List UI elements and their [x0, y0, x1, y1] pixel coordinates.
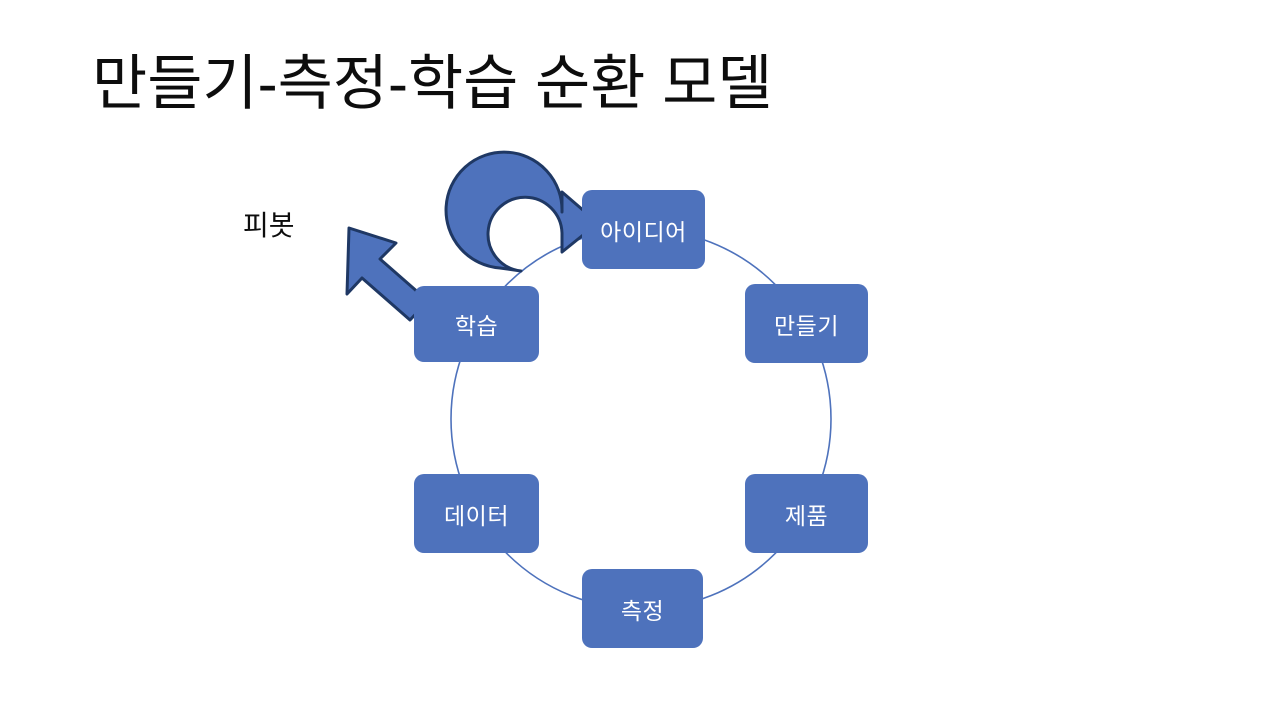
cycle-node-data[interactable]: 데이터 [414, 474, 539, 553]
cycle-node-idea[interactable]: 아이디어 [582, 190, 705, 269]
cycle-node-product[interactable]: 제품 [745, 474, 868, 553]
cycle-node-build[interactable]: 만들기 [745, 284, 868, 363]
cycle-node-product-label: 제품 [785, 497, 828, 531]
curved-loop-arrow-icon [446, 152, 598, 271]
cycle-node-learn-label: 학습 [455, 307, 498, 341]
cycle-node-measure[interactable]: 측정 [582, 569, 703, 648]
pivot-annotation-label: 피봇 [243, 207, 295, 245]
cycle-node-build-label: 만들기 [774, 307, 839, 341]
cycle-node-idea-label: 아이디어 [600, 213, 687, 247]
cycle-node-learn[interactable]: 학습 [414, 286, 539, 362]
cycle-diagram: 아이디어 만들기 제품 측정 데이터 학습 피봇 [0, 0, 1280, 702]
cycle-node-data-label: 데이터 [444, 497, 509, 531]
cycle-node-measure-label: 측정 [621, 592, 664, 626]
slide-canvas: 만들기-측정-학습 순환 모델 아이디어 만들기 제품 측정 [0, 0, 1280, 702]
